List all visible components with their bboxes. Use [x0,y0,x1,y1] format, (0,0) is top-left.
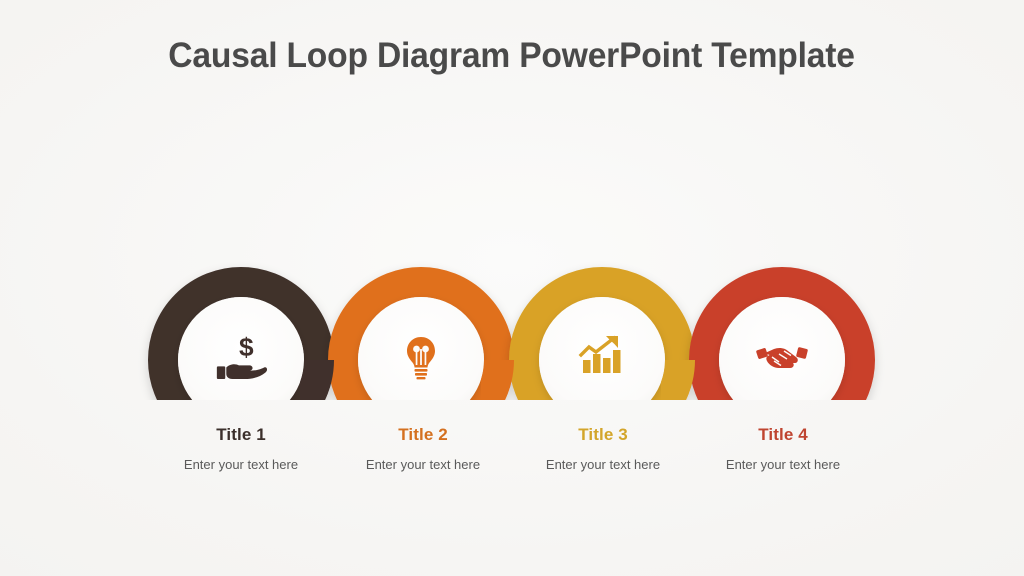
label-step-4: Title 4 Enter your text here [658,425,908,472]
causal-loop-diagram: $ [0,180,1024,400]
step-4-subtitle: Enter your text here [658,457,908,472]
slide-canvas: Causal Loop Diagram PowerPoint Template [0,0,1024,576]
svg-text:$: $ [239,332,254,362]
step-labels: Title 1 Enter your text here Title 2 Ent… [0,425,1024,505]
page-title-container: Causal Loop Diagram PowerPoint Template [0,36,1024,76]
ring-step-4[interactable] [704,282,860,400]
ring-step-3[interactable] [524,282,680,400]
step-4-title: Title 4 [658,425,908,445]
page-title: Causal Loop Diagram PowerPoint Template [169,36,855,76]
